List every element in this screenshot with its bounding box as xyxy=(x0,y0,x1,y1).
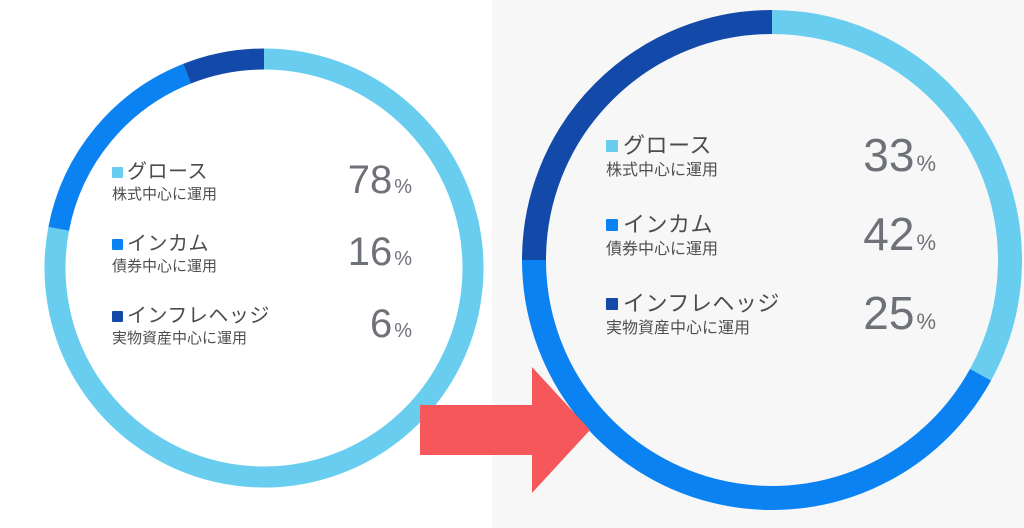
legend-item-income-title-line: インカム xyxy=(112,232,217,256)
legend-item-income-number: 42 xyxy=(863,212,914,256)
legend-item-income-title-line: インカム xyxy=(606,212,718,238)
legend-item-income: インカム 債券中心に運用 42 % xyxy=(606,212,936,261)
growth-swatch-icon xyxy=(112,167,123,178)
legend-item-inflation-label: インフレヘッジ xyxy=(127,304,270,328)
legend-item-income-value: 16 % xyxy=(348,232,412,272)
legend-item-inflation-label: インフレヘッジ xyxy=(623,291,780,317)
inflation-swatch-icon xyxy=(112,311,123,322)
legend-item-growth-number: 33 xyxy=(863,133,914,177)
legend-item-inflation-title-line: インフレヘッジ xyxy=(112,304,270,328)
legend-item-growth-title-line: グロース xyxy=(112,160,217,184)
legend-item-income-sub: 債券中心に運用 xyxy=(606,238,718,261)
legend-item-inflation-number: 6 xyxy=(370,304,392,344)
legend-item-income-sub: 債券中心に運用 xyxy=(112,256,217,278)
legend-item-growth-value: 33 % xyxy=(863,133,936,177)
income-swatch-icon xyxy=(606,219,618,231)
growth-swatch-icon xyxy=(606,140,618,152)
legend-item-inflation-title-line: インフレヘッジ xyxy=(606,291,780,317)
legend-item-income-value: 42 % xyxy=(863,212,936,256)
legend-item-inflation: インフレヘッジ 実物資産中心に運用 6 % xyxy=(112,304,412,350)
legend-item-growth-title-line: グロース xyxy=(606,133,718,159)
legend-item-inflation-text: インフレヘッジ 実物資産中心に運用 xyxy=(606,291,780,340)
legend-item-income-label: インカム xyxy=(127,232,209,256)
after-legend: グロース 株式中心に運用 33 % インカム 債券中心に運用 42 % xyxy=(606,133,936,340)
legend-item-growth-value: 78 % xyxy=(348,160,412,200)
legend-item-inflation-sub: 実物資産中心に運用 xyxy=(112,328,270,350)
arrow-right-icon xyxy=(420,363,590,497)
donut-segment-inflation xyxy=(187,59,264,74)
legend-item-income-number: 16 xyxy=(348,232,393,272)
legend-item-income-percent-sign: % xyxy=(916,232,936,254)
legend-item-growth-number: 78 xyxy=(348,160,393,200)
legend-item-inflation-value: 6 % xyxy=(370,304,412,344)
legend-item-income: インカム 債券中心に運用 16 % xyxy=(112,232,412,278)
legend-item-growth-sub: 株式中心に運用 xyxy=(606,159,718,182)
legend-item-inflation-sub: 実物資産中心に運用 xyxy=(606,317,780,340)
inflation-swatch-icon xyxy=(606,298,618,310)
legend-item-growth-label: グロース xyxy=(623,133,712,159)
legend-item-income-text: インカム 債券中心に運用 xyxy=(606,212,718,261)
legend-item-inflation-text: インフレヘッジ 実物資産中心に運用 xyxy=(112,304,270,350)
legend-item-growth: グロース 株式中心に運用 78 % xyxy=(112,160,412,206)
legend-item-growth-text: グロース 株式中心に運用 xyxy=(606,133,718,182)
legend-item-income-percent-sign: % xyxy=(394,249,412,269)
legend-item-growth-label: グロース xyxy=(127,160,208,184)
legend-item-inflation-percent-sign: % xyxy=(916,311,936,333)
legend-item-inflation: インフレヘッジ 実物資産中心に運用 25 % xyxy=(606,291,936,340)
legend-item-inflation-percent-sign: % xyxy=(394,321,412,341)
legend-item-income-label: インカム xyxy=(623,212,713,238)
legend-item-inflation-number: 25 xyxy=(863,291,914,335)
legend-item-growth-text: グロース 株式中心に運用 xyxy=(112,160,217,206)
legend-item-growth-percent-sign: % xyxy=(394,177,412,197)
before-legend: グロース 株式中心に運用 78 % インカム 債券中心に運用 16 % xyxy=(112,160,412,350)
legend-item-inflation-value: 25 % xyxy=(863,291,936,335)
legend-item-growth: グロース 株式中心に運用 33 % xyxy=(606,133,936,182)
legend-item-growth-percent-sign: % xyxy=(916,153,936,175)
legend-item-income-text: インカム 債券中心に運用 xyxy=(112,232,217,278)
legend-item-growth-sub: 株式中心に運用 xyxy=(112,184,217,206)
allocation-comparison-figure: グロース 株式中心に運用 78 % インカム 債券中心に運用 16 % xyxy=(0,0,1024,528)
income-swatch-icon xyxy=(112,239,123,250)
